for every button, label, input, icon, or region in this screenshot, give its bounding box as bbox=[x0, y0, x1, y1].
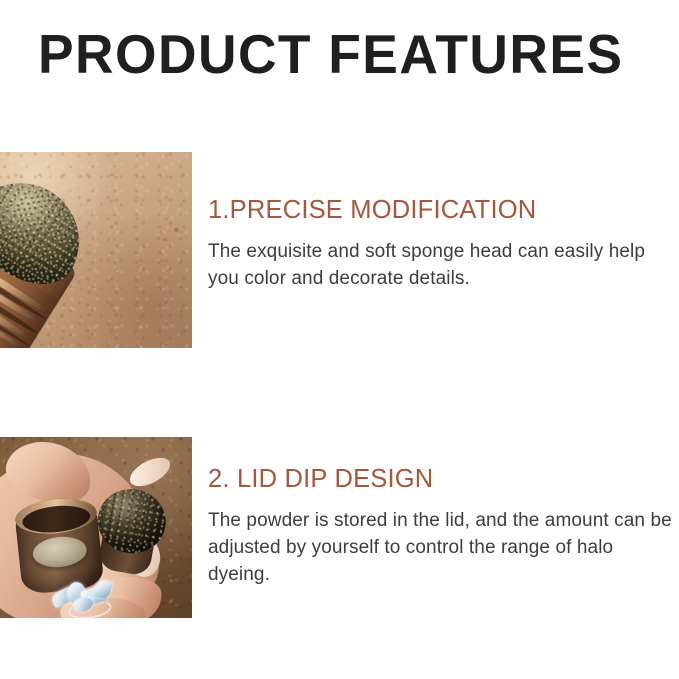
gemstone bbox=[93, 579, 113, 600]
feature-text-2: 2. LID DIP DESIGN The powder is stored i… bbox=[208, 465, 674, 589]
feature-text-1: 1.PRECISE MODIFICATION The exquisite and… bbox=[208, 196, 674, 293]
feature-body-2: The powder is stored in the lid, and the… bbox=[208, 508, 674, 589]
background-speck bbox=[163, 238, 166, 241]
hand-holding-open-jar-photo bbox=[0, 437, 192, 618]
feature-heading-2: 2. LID DIP DESIGN bbox=[208, 465, 674, 494]
page-title: PRODUCT FEATURES bbox=[38, 26, 623, 84]
feature-body-1: The exquisite and soft sponge head can e… bbox=[208, 239, 674, 293]
feature-heading-1: 1.PRECISE MODIFICATION bbox=[208, 196, 674, 225]
sponge-tip-stick-photo bbox=[0, 152, 192, 348]
sponge-applicator bbox=[89, 484, 171, 579]
product-features-page: PRODUCT FEATURES 1.PRECISE MODIFIC bbox=[0, 0, 679, 679]
background-speck bbox=[174, 228, 179, 232]
